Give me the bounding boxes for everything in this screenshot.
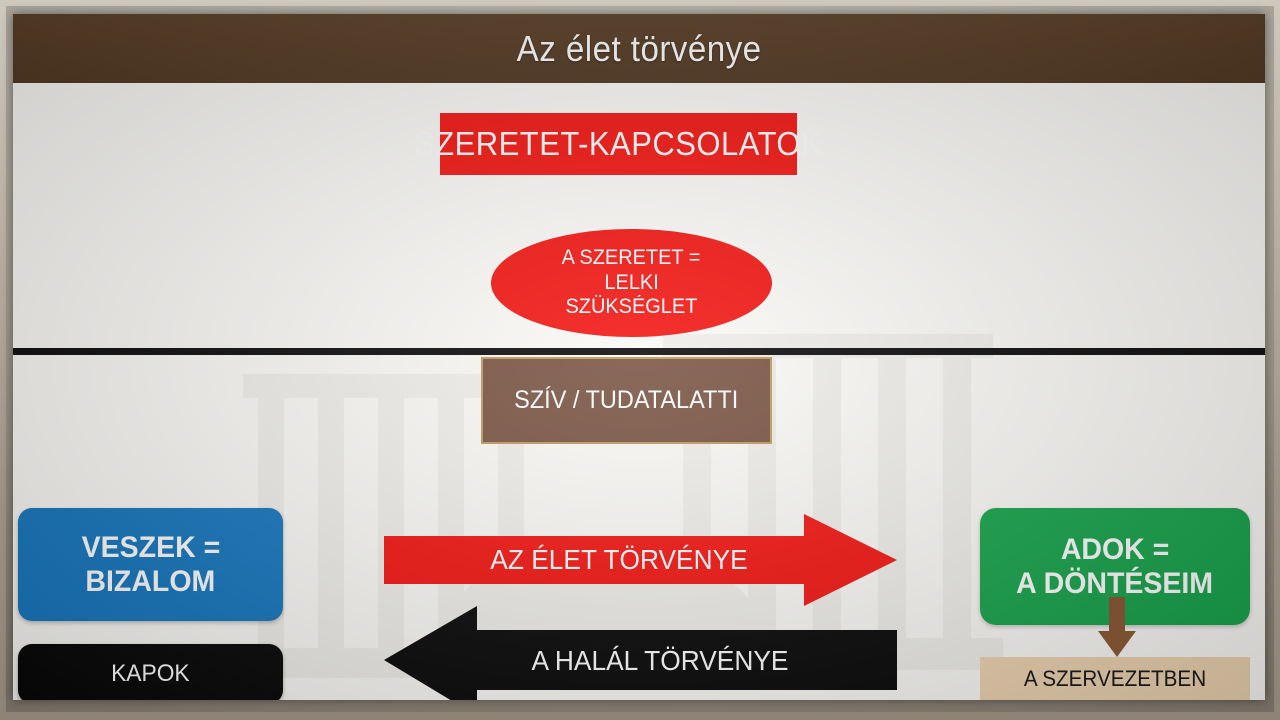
- down-arrow-icon: [1098, 597, 1136, 657]
- in-organisation-box: A SZERVEZETBEN: [980, 657, 1250, 700]
- page-title: Az élet törvénye: [517, 28, 762, 70]
- love-relationships-label: SZERETET-KAPCSOLATOK: [414, 125, 822, 163]
- love-relationships-banner: SZERETET-KAPCSOLATOK: [440, 113, 797, 175]
- receive-box: KAPOK: [18, 644, 283, 700]
- take-trust-box: VESZEK = BIZALOM: [18, 508, 283, 621]
- heart-subconscious-label: SZÍV / TUDATALATTI: [514, 386, 738, 415]
- love-definition-line-2: LELKI: [604, 271, 658, 295]
- love-definition-line-1: A SZERETET =: [562, 246, 701, 270]
- slide-title-bar: Az élet törvénye: [13, 14, 1265, 83]
- law-of-death-left-arrow: [384, 602, 897, 700]
- heart-subconscious-box: SZÍV / TUDATALATTI: [481, 357, 772, 444]
- take-trust-line-2: BIZALOM: [86, 565, 216, 599]
- love-definition-line-3: SZÜKSÉGLET: [566, 295, 698, 319]
- give-decisions-line-2: A DÖNTÉSEIM: [1017, 567, 1214, 601]
- presentation-slide: Az élet törvénye SZERETET-KAPCSOLATOK A …: [13, 14, 1265, 700]
- slide-canvas: Az élet törvénye SZERETET-KAPCSOLATOK A …: [0, 0, 1280, 720]
- love-definition-ellipse: A SZERETET = LELKI SZÜKSÉGLET: [491, 229, 772, 337]
- give-decisions-line-1: ADOK =: [1061, 533, 1169, 567]
- in-organisation-label: A SZERVEZETBEN: [1024, 666, 1206, 692]
- take-trust-line-1: VESZEK =: [81, 531, 220, 565]
- section-divider-line: [13, 348, 1265, 355]
- receive-label: KAPOK: [111, 660, 190, 688]
- law-of-life-right-arrow: [384, 514, 897, 606]
